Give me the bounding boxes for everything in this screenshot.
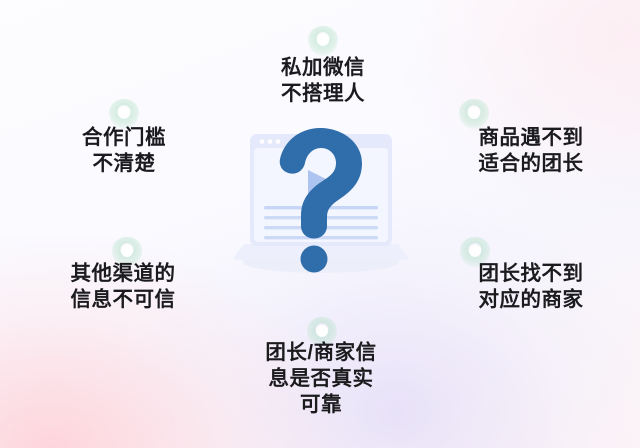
pain-point-label-top: 私加微信 不搭理人 bbox=[253, 55, 393, 107]
label-line: 对应的商家 bbox=[449, 287, 613, 313]
center-illustration bbox=[228, 126, 414, 286]
label-line: 团长找不到 bbox=[449, 261, 613, 287]
marker-ring-outer bbox=[308, 26, 338, 56]
pain-point-label-left-upper: 合作门槛 不清楚 bbox=[48, 125, 200, 177]
marker-ring-inner bbox=[118, 107, 130, 119]
label-line: 合作门槛 bbox=[48, 125, 200, 151]
marker-ring-inner bbox=[317, 34, 329, 46]
label-line: 息是否真实 bbox=[238, 366, 404, 392]
label-line: 团长/商家信 bbox=[238, 340, 404, 366]
pain-point-label-right-lower: 团长找不到 对应的商家 bbox=[449, 261, 613, 313]
pain-point-label-left-lower: 其他渠道的 信息不可信 bbox=[42, 261, 204, 313]
window-dot bbox=[260, 139, 265, 144]
marker-ring-inner bbox=[316, 325, 328, 337]
marker-ring-inner bbox=[469, 245, 481, 257]
label-line: 私加微信 bbox=[253, 55, 393, 81]
label-line: 可靠 bbox=[238, 392, 404, 418]
label-line: 适合的团长 bbox=[447, 151, 615, 177]
label-line: 不清楚 bbox=[48, 151, 200, 177]
marker-ring-inner bbox=[121, 245, 133, 257]
pain-point-label-right-upper: 商品遇不到 适合的团长 bbox=[447, 125, 615, 177]
label-line: 其他渠道的 bbox=[42, 261, 204, 287]
marker-ring-inner bbox=[468, 107, 480, 119]
label-line: 商品遇不到 bbox=[447, 125, 615, 151]
pain-point-label-bottom: 团长/商家信 息是否真实 可靠 bbox=[238, 340, 404, 419]
window-dot bbox=[268, 139, 273, 144]
location-pin-ring-icon bbox=[308, 26, 338, 56]
label-line: 不搭理人 bbox=[253, 81, 393, 107]
label-line: 信息不可信 bbox=[42, 287, 204, 313]
infographic-canvas: 私加微信 不搭理人 合作门槛 不清楚 商品遇不到 适合的团长 其他渠道的 信息不… bbox=[0, 0, 640, 448]
window-dot bbox=[276, 139, 281, 144]
